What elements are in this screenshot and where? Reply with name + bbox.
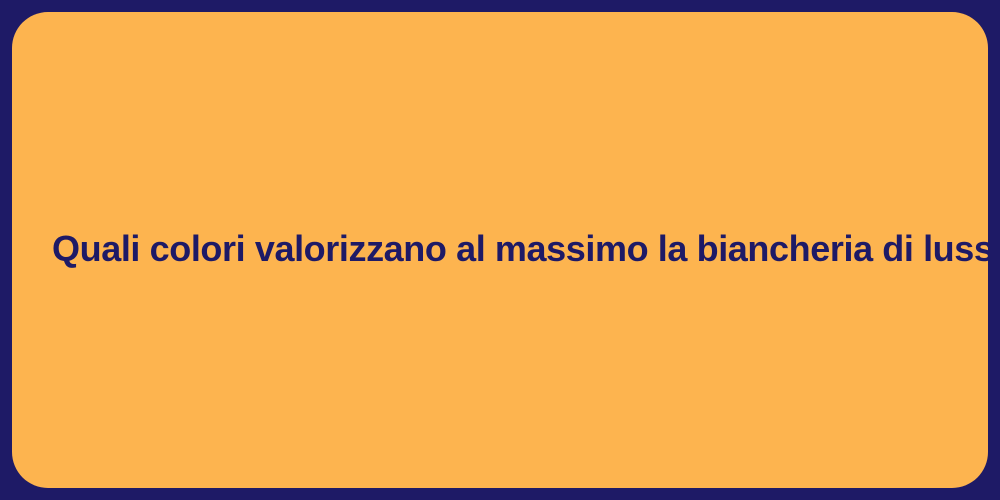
question-card: Quali colori valorizzano al massimo la b… [12,12,988,488]
headline-question: Quali colori valorizzano al massimo la b… [12,226,988,273]
page-canvas: Quali colori valorizzano al massimo la b… [0,0,1000,500]
